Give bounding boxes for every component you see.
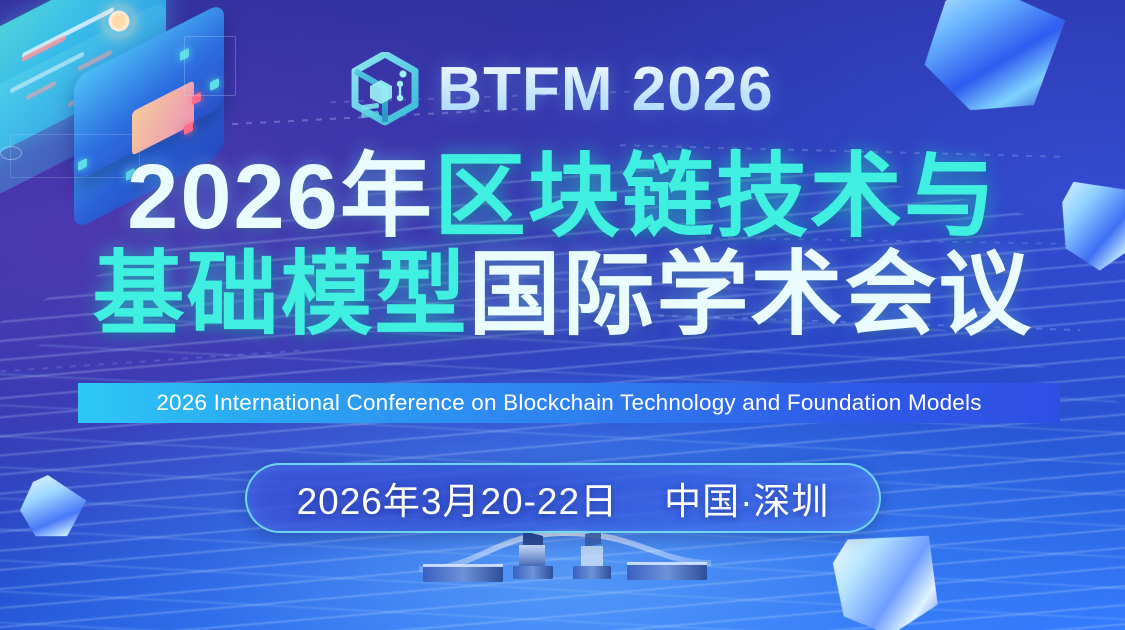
title-line2-part2: 国际学术会议 bbox=[469, 244, 1033, 346]
logo-text: BTFM 2026 bbox=[437, 59, 773, 121]
date-location-pill: 2026年3月20-22日 中国·深圳 bbox=[245, 463, 881, 533]
conference-banner: BTFM 2026 2026年区块链技术与 基础模型国际学术会议 2026 In… bbox=[0, 0, 1125, 630]
conference-date: 2026年3月20-22日 bbox=[297, 471, 619, 525]
blockchain-hex-cube-icon bbox=[351, 52, 419, 128]
title-line-1: 2026年区块链技术与 bbox=[0, 148, 1125, 246]
logo-row: BTFM 2026 bbox=[0, 52, 1125, 128]
page-title: 2026年区块链技术与 基础模型国际学术会议 bbox=[0, 148, 1125, 344]
title-line-2: 基础模型国际学术会议 bbox=[0, 246, 1125, 344]
title-line1-part2: 区块链技术与 bbox=[434, 146, 998, 248]
subtitle-en-text: 2026 International Conference on Blockch… bbox=[156, 390, 981, 416]
title-line2-part1: 基础模型 bbox=[92, 244, 468, 346]
conference-location: 中国·深圳 bbox=[664, 471, 829, 525]
subtitle-bar: 2026 International Conference on Blockch… bbox=[78, 383, 1060, 423]
title-line1-part1: 2026年 bbox=[127, 146, 434, 248]
